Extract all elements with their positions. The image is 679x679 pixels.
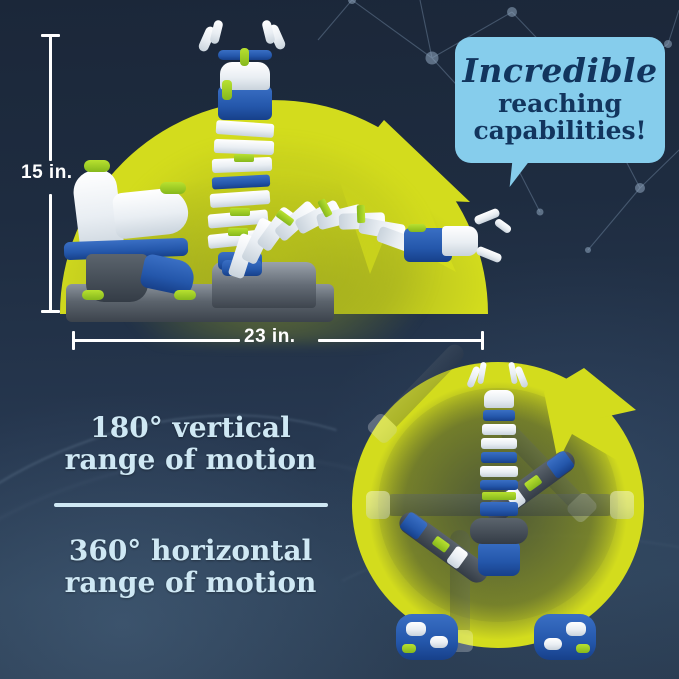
dimension-line bbox=[74, 339, 240, 342]
dimension-line bbox=[49, 35, 52, 161]
main-illustration bbox=[52, 22, 512, 332]
claim-vertical: 180° vertical range of motion bbox=[18, 412, 363, 477]
dimension-line bbox=[49, 194, 52, 312]
dimension-height-label: 15 in. bbox=[21, 162, 73, 184]
callout-line-3: capabilities! bbox=[473, 117, 646, 144]
claim-horizontal-line-2: range of motion bbox=[18, 567, 363, 599]
claims-divider bbox=[54, 503, 328, 507]
callout-tail bbox=[510, 161, 539, 187]
dimension-height: 15 in. bbox=[49, 34, 52, 314]
dimension-width: 23 in. bbox=[72, 339, 484, 342]
claim-horizontal-line-1: 360° horizontal bbox=[18, 535, 363, 567]
claim-horizontal: 360° horizontal range of motion bbox=[18, 535, 363, 600]
rotation-illustration bbox=[352, 362, 644, 648]
dimension-line bbox=[318, 339, 482, 342]
callout-bubble: Incredible reaching capabilities! bbox=[455, 37, 665, 163]
dimension-cap-icon bbox=[481, 331, 484, 350]
claims-block: 180° vertical range of motion 360° horiz… bbox=[18, 412, 363, 600]
callout-line-2: reaching bbox=[498, 90, 622, 117]
product-feature-image: 15 in. 23 in. Incredible reaching capabi… bbox=[0, 0, 679, 679]
dimension-cap-icon bbox=[41, 310, 60, 313]
claim-vertical-line-2: range of motion bbox=[18, 444, 363, 476]
callout-line-1: Incredible bbox=[462, 54, 657, 87]
claim-vertical-line-1: 180° vertical bbox=[18, 412, 363, 444]
dimension-width-label: 23 in. bbox=[244, 326, 296, 348]
